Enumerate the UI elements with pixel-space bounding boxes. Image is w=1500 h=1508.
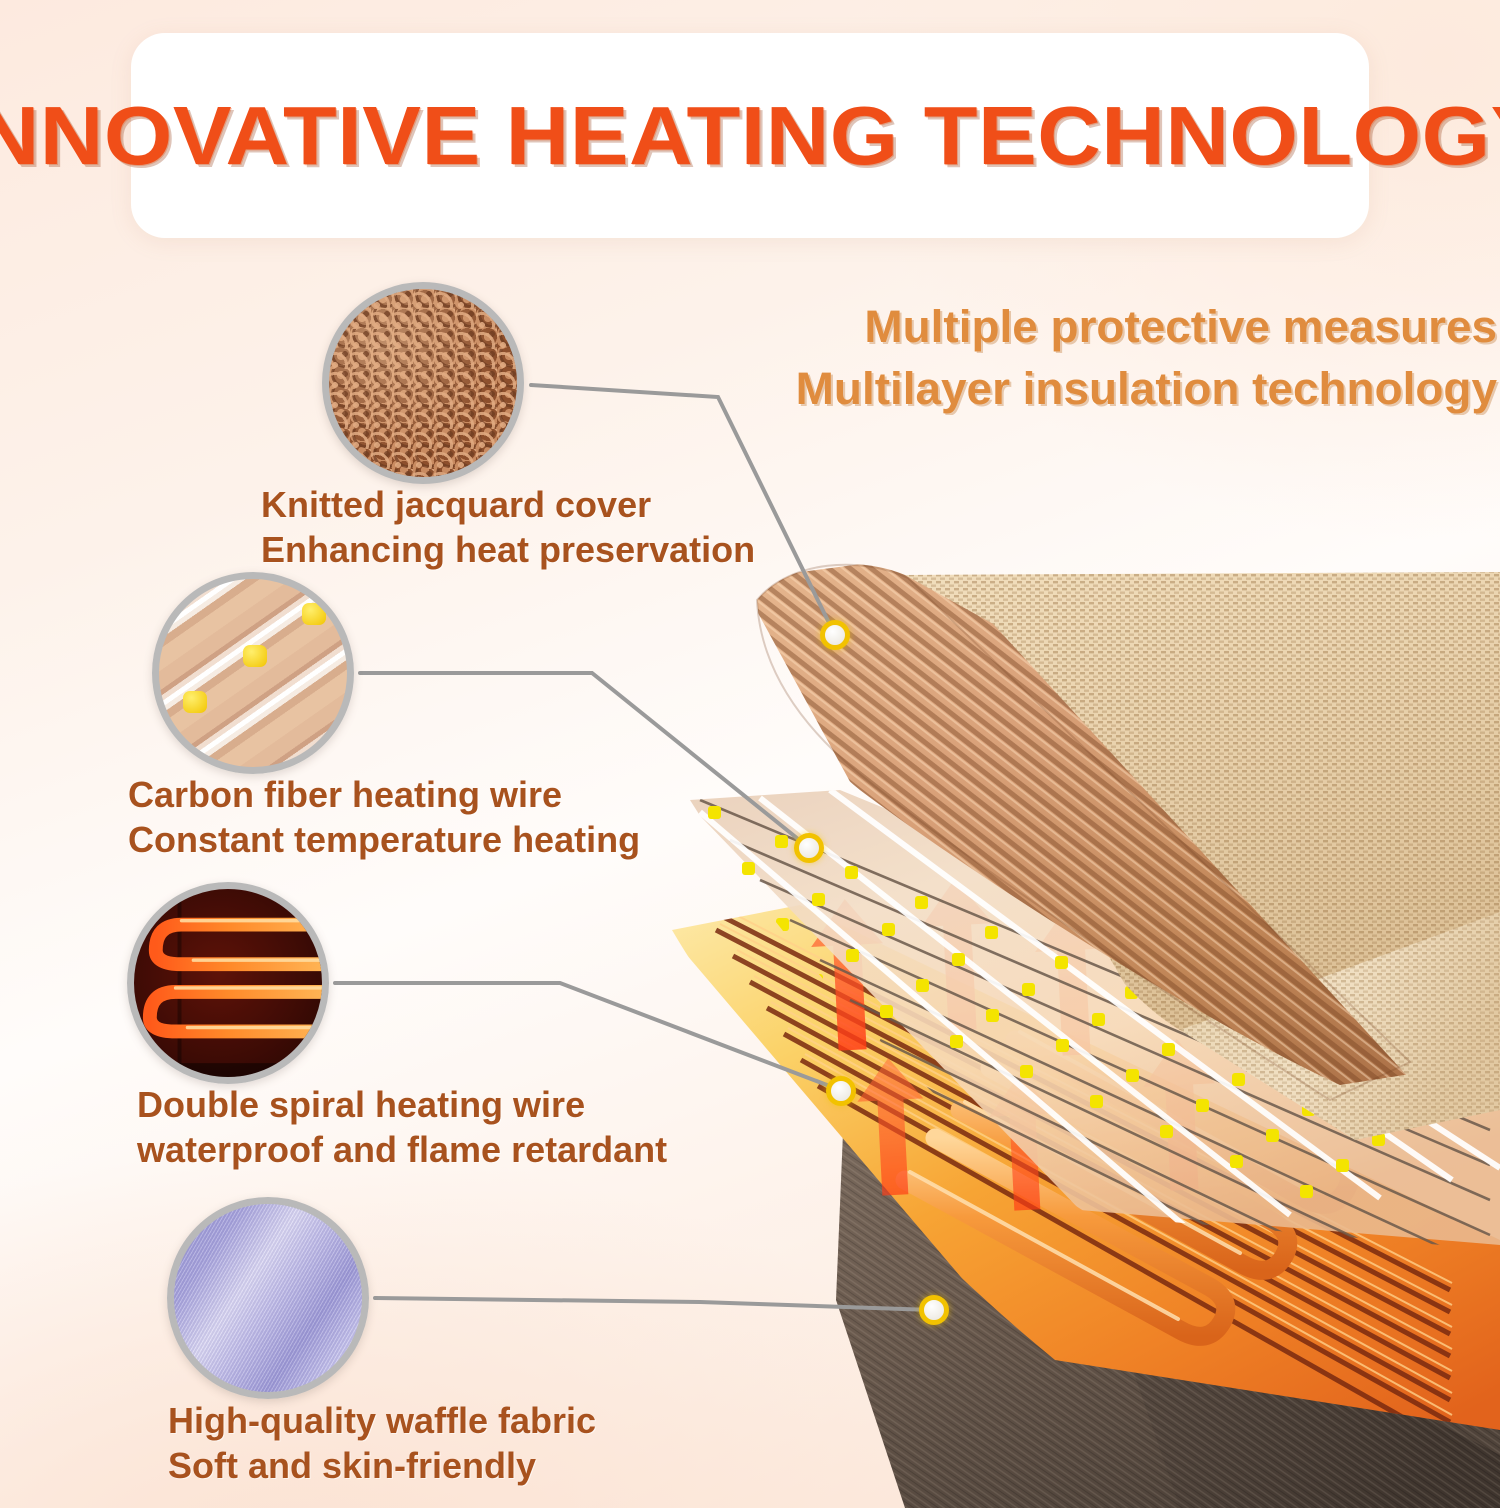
swatch-waffle-fabric (167, 1197, 369, 1399)
swatch-knitted-jacquard (322, 282, 524, 484)
title-card: INNOVATIVE HEATING TECHNOLOGY (131, 33, 1369, 238)
headline-line-1: Multiple protective measures (783, 296, 1497, 358)
callout-label-waffle-fabric: High-quality waffle fabric Soft and skin… (168, 1398, 596, 1488)
callout-label-knitted-jacquard: Knitted jacquard cover Enhancing heat pr… (261, 482, 755, 572)
callout-label-double-spiral: Double spiral heating wire waterproof an… (137, 1082, 667, 1172)
infographic-canvas: INNOVATIVE HEATING TECHNOLOGY Multiple p… (0, 0, 1500, 1508)
marker-heating-element (826, 1076, 856, 1106)
callout-4-line-2: Soft and skin-friendly (168, 1443, 596, 1488)
headline-block: Multiple protective measures Multilayer … (790, 296, 1490, 420)
headline-line-2: Multilayer insulation technology (783, 358, 1497, 420)
callout-1-line-2: Enhancing heat preservation (261, 527, 755, 572)
swatch-double-spiral (127, 882, 329, 1084)
marker-base-fabric (919, 1295, 949, 1325)
callout-4-line-1: High-quality waffle fabric (168, 1398, 596, 1443)
callout-3-line-1: Double spiral heating wire (137, 1082, 667, 1127)
callout-2-line-1: Carbon fiber heating wire (128, 772, 640, 817)
marker-cover (820, 620, 850, 650)
callout-1-line-1: Knitted jacquard cover (261, 482, 755, 527)
callout-3-line-2: waterproof and flame retardant (137, 1127, 667, 1172)
marker-wire (794, 833, 824, 863)
callout-2-line-2: Constant temperature heating (128, 817, 640, 862)
swatch-carbon-fiber-wire (152, 572, 354, 774)
page-title: INNOVATIVE HEATING TECHNOLOGY (0, 88, 1500, 184)
callout-label-carbon-fiber: Carbon fiber heating wire Constant tempe… (128, 772, 640, 862)
